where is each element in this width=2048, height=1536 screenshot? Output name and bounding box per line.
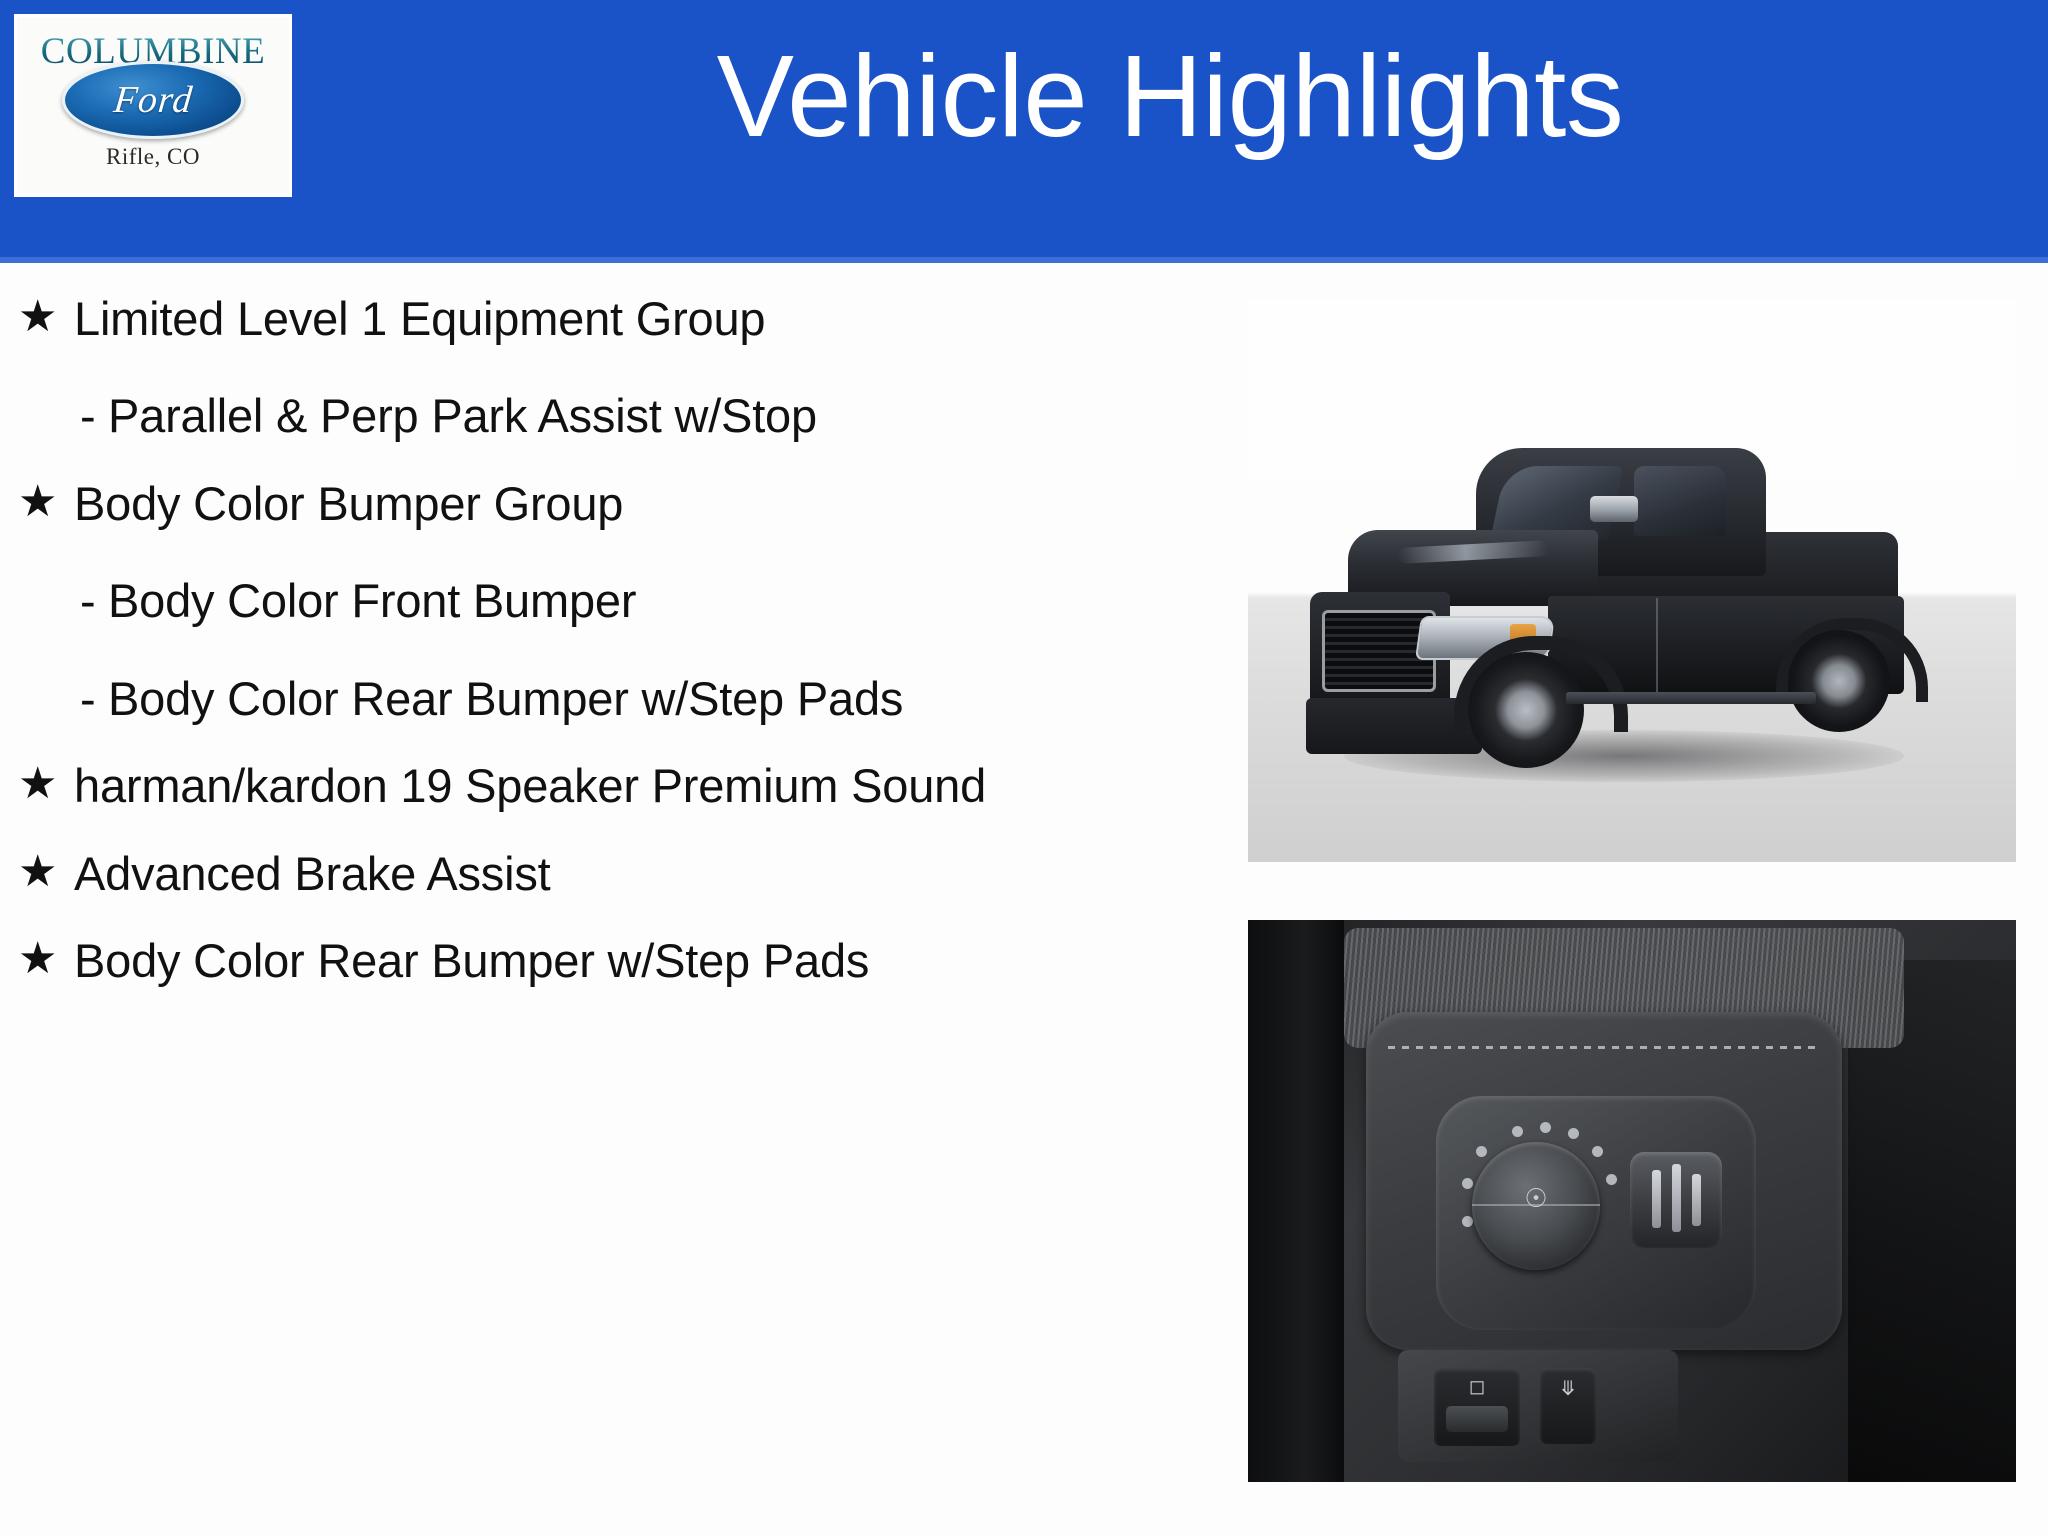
truck-running-board [1566,692,1816,704]
pedal-adjust-icon: ⤋ [1548,1376,1588,1401]
dash-bullet-icon: - [80,388,108,443]
star-bullet-icon: ★ [18,476,74,528]
tailgate-rocker[interactable] [1446,1406,1508,1432]
ford-wordmark: Ford [112,81,195,119]
list-item-label: Body Color Front Bumper [108,573,1148,628]
list-item-label: Advanced Brake Assist [74,846,1114,901]
list-item-label: Parallel & Perp Park Assist w/Stop [108,388,1148,443]
star-bullet-icon: ★ [18,846,74,898]
truck-rear-window [1634,466,1726,536]
dealer-logo: COLUMBINE Ford Rifle, CO [14,14,292,197]
dash-bullet-icon: - [80,573,108,628]
list-item: ★ harman/kardon 19 Speaker Premium Sound [0,758,1200,813]
dimmer-switch[interactable] [1630,1152,1722,1248]
list-item-label: Body Color Rear Bumper w/Step Pads [74,933,1114,988]
headlight-symbol-icon: ☉ [1516,1178,1556,1218]
list-item: - Body Color Front Bumper [0,573,1200,628]
page-title: Vehicle Highlights [300,36,2040,158]
door-jamb [1248,920,1344,1482]
list-item-label: harman/kardon 19 Speaker Premium Sound [74,758,1114,813]
list-item: ★ Body Color Rear Bumper w/Step Pads [0,933,1200,988]
vehicle-interior-photo: ☉ ◻ ⤋ [1248,920,2016,1482]
list-item-label: Body Color Rear Bumper w/Step Pads [108,671,1148,726]
dealer-location-text: Rifle, CO [106,145,200,168]
list-item: - Parallel & Perp Park Assist w/Stop [0,388,1200,443]
list-item-label: Limited Level 1 Equipment Group [74,291,1114,346]
truck-rear-wheel [1788,630,1890,732]
list-item: ★ Advanced Brake Assist [0,846,1200,901]
truck-front-wheel [1468,652,1584,768]
truck-side-mirror [1590,496,1638,522]
star-bullet-icon: ★ [18,291,74,343]
list-item-label: Body Color Bumper Group [74,476,1114,531]
ford-oval-icon: Ford [62,61,244,139]
vehicle-exterior-photo [1248,300,2016,862]
highlights-list: ★ Limited Level 1 Equipment Group - Para… [0,263,1200,989]
star-bullet-icon: ★ [18,758,74,810]
vehicle-highlights-slide: COLUMBINE Ford Rifle, CO Vehicle Highlig… [0,0,2048,1536]
tailgate-icon: ◻ [1454,1374,1500,1399]
dash-stitching [1388,1046,1818,1049]
list-item: ★ Body Color Bumper Group [0,476,1200,531]
star-bullet-icon: ★ [18,933,74,985]
list-item: ★ Limited Level 1 Equipment Group [0,291,1200,346]
truck-door-seam [1656,598,1658,692]
list-item: - Body Color Rear Bumper w/Step Pads [0,671,1200,726]
dash-bullet-icon: - [80,671,108,726]
